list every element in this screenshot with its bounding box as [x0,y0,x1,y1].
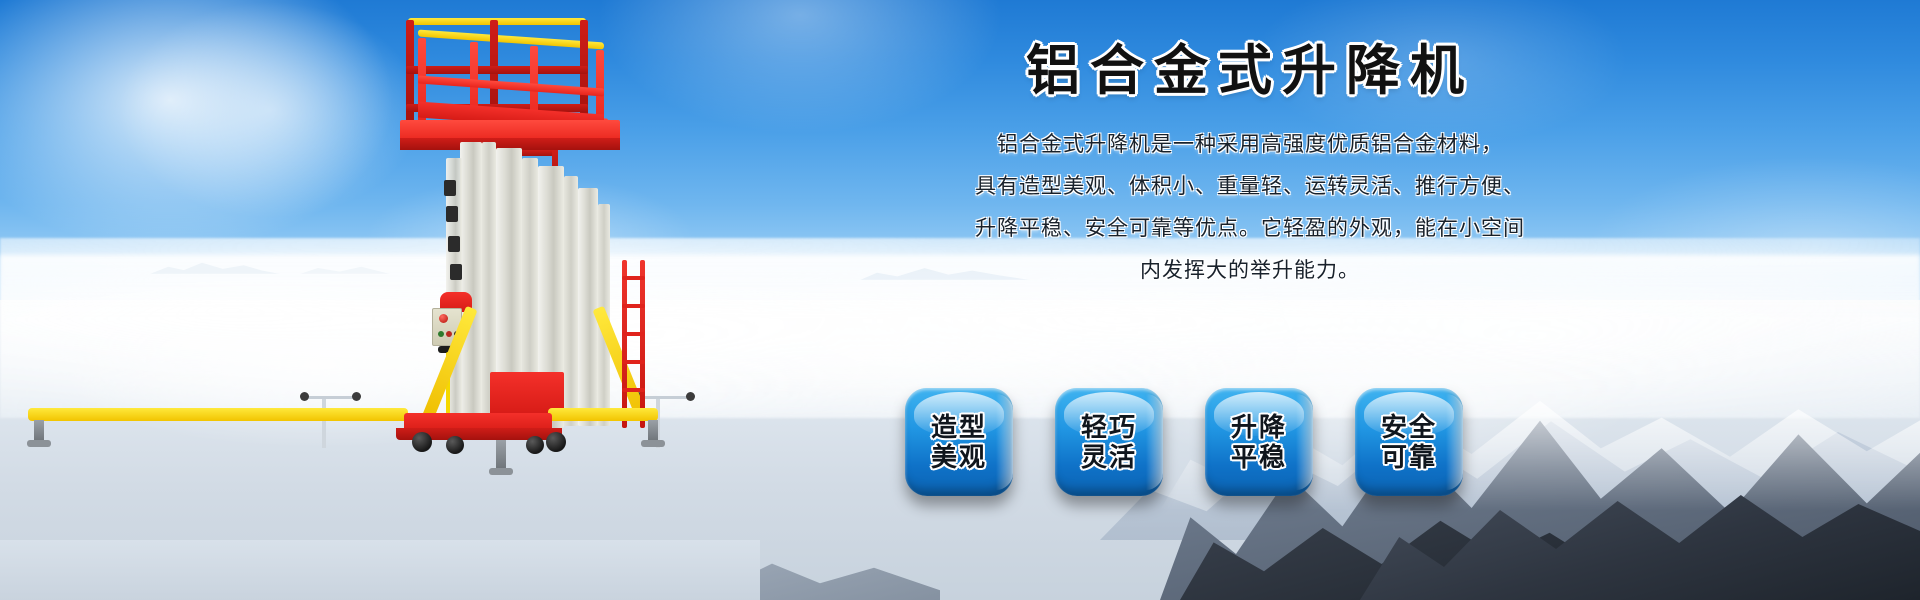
feature-badge-list: 造型 美观 轻巧 灵活 升降 平稳 安全 可靠 [905,388,1565,496]
outrigger-foot [648,420,658,442]
foreground-snow [0,540,760,600]
paragraph-line: 铝合金式升降机是一种采用高强度优质铝合金材料， [900,124,1600,166]
badge-label-line2: 美观 [931,442,987,472]
down-button[interactable] [446,331,452,337]
paragraph-line: 升降平稳、安全可靠等优点。它轻盈的外观，能在小空间 [900,208,1600,250]
feature-badge-smooth-lift[interactable]: 升降 平稳 [1205,388,1313,496]
caster-wheel [412,432,432,452]
feature-badge-safety[interactable]: 安全 可靠 [1355,388,1463,496]
ladder-rung [622,276,645,280]
copy-block: 铝合金式升降机 铝合金式升降机是一种采用高强度优质铝合金材料， 具有造型美观、体… [900,40,1600,292]
paragraph-line: 内发挥大的举升能力。 [900,250,1600,292]
chain-guide-clip [446,206,458,222]
page-title: 铝合金式升降机 [900,40,1600,102]
badge-label: 升降 平稳 [1231,412,1287,472]
paragraph-line: 具有造型美观、体积小、重量轻、运转灵活、推行方便、 [900,166,1600,208]
product-image-mast-lift [300,8,720,488]
tripod-pole [322,396,326,448]
tripod-ball [686,392,695,401]
badge-label-line1: 轻巧 [1081,412,1137,442]
badge-label: 轻巧 灵活 [1081,412,1137,472]
center-stabilizer-pad [489,468,513,475]
caster-wheel [526,436,544,454]
outrigger-foot-pad [27,440,51,447]
tripod-ball [352,392,361,401]
outrigger-foot-pad [641,440,665,447]
ladder-rung [622,304,645,308]
outrigger-bar-left [28,408,408,421]
badge-label-line2: 灵活 [1081,442,1137,472]
basket-top-rail-yellow [418,29,604,49]
railing-rail [406,66,588,74]
badge-label-line2: 可靠 [1381,442,1437,472]
ladder-rung [622,332,645,336]
chain-guide-clip [450,264,462,280]
ladder-rung [622,388,645,392]
chain-guide-clip [444,180,456,196]
ladder-rail [622,260,627,428]
badge-label-line1: 造型 [931,412,987,442]
ladder-rail [640,260,645,428]
tripod-ball [300,392,309,401]
outrigger-bar-right [548,408,658,421]
feature-badge-lightweight[interactable]: 轻巧 灵活 [1055,388,1163,496]
badge-label-line1: 安全 [1381,412,1437,442]
badge-label-line2: 平稳 [1231,442,1287,472]
railing-rail [418,75,604,96]
badge-label: 造型 美观 [931,412,987,472]
product-banner: 铝合金式升降机 铝合金式升降机是一种采用高强度优质铝合金材料， 具有造型美观、体… [0,0,1920,600]
mast-column [564,176,578,426]
emergency-stop-button[interactable] [439,314,448,323]
chain-guide-clip [448,236,460,252]
description-paragraph: 铝合金式升降机是一种采用高强度优质铝合金材料， 具有造型美观、体积小、重量轻、运… [900,124,1600,292]
up-button[interactable] [438,331,444,337]
mast-column [460,142,482,424]
tripod-arm [302,396,358,399]
center-stabilizer-leg [496,440,506,470]
caster-wheel [546,432,566,452]
caster-wheel [446,436,464,454]
feature-badge-appearance[interactable]: 造型 美观 [905,388,1013,496]
badge-label: 安全 可靠 [1381,412,1437,472]
outrigger-foot [34,420,44,442]
badge-label-line1: 升降 [1231,412,1287,442]
mast-column [578,188,598,426]
ladder-rung [622,360,645,364]
